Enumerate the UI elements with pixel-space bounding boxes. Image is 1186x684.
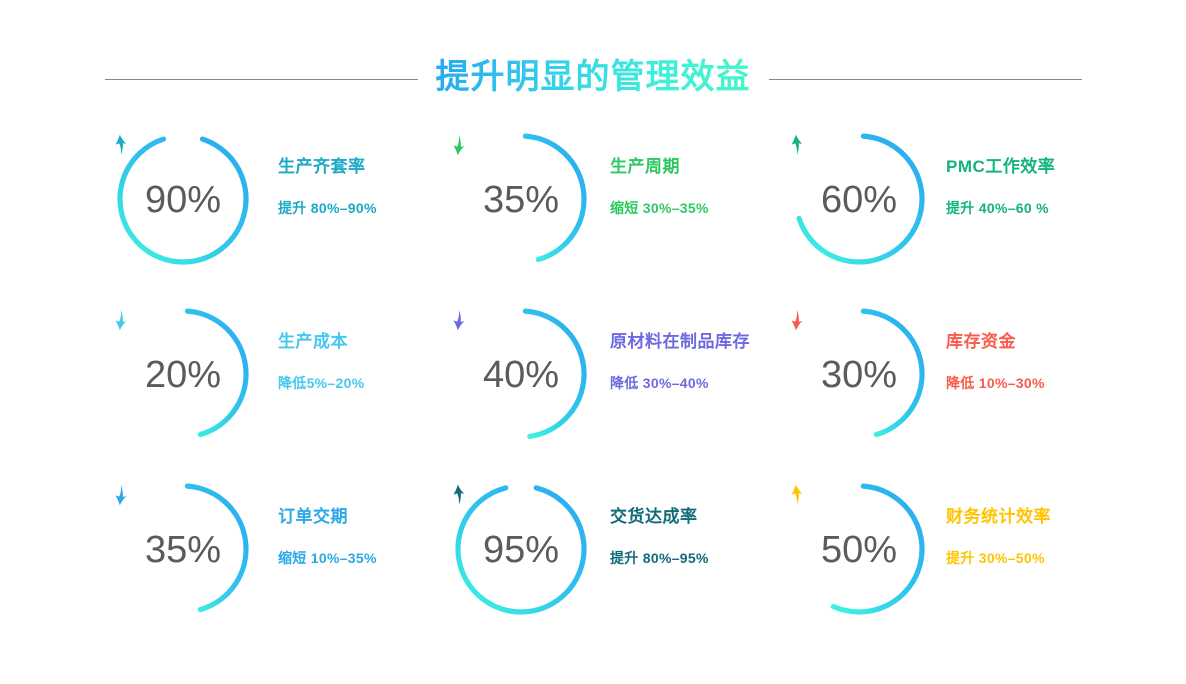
metric-card: 60% PMC工作效率 提升 40%–60 %: [772, 122, 1110, 297]
metric-subtitle: 缩短 10%–35%: [278, 551, 377, 566]
gauge-metric-finance-statistics-efficiency: 50%: [786, 476, 932, 622]
gauge-metric-delivery-achievement-rate: 95%: [448, 476, 594, 622]
metric-subtitle: 降低 30%–40%: [610, 376, 709, 391]
arrow-up-icon: [110, 132, 132, 158]
metric-info: 交货达成率 提升 80%–95%: [610, 508, 709, 566]
gauge-value: 95%: [483, 531, 559, 569]
gauge-metric-inventory-capital: 30%: [786, 301, 932, 447]
metric-info: 财务统计效率 提升 30%–50%: [946, 508, 1051, 566]
arrow-down-icon: [786, 307, 808, 333]
metric-subtitle: 提升 40%–60 %: [946, 201, 1049, 216]
header-rule-left: [105, 79, 418, 80]
metric-card: 95% 交货达成率 提升 80%–95%: [434, 472, 772, 647]
gauge-metric-pmc-efficiency: 60%: [786, 126, 932, 272]
metric-subtitle: 提升 80%–95%: [610, 551, 709, 566]
gauge-center: 90%: [110, 126, 256, 272]
metric-info: PMC工作效率 提升 40%–60 %: [946, 158, 1055, 216]
metric-title: 生产周期: [610, 158, 680, 177]
gauge-metric-order-lead-time: 35%: [110, 476, 256, 622]
metric-title: 生产成本: [278, 333, 348, 352]
metric-info: 生产齐套率 提升 80%–90%: [278, 158, 377, 216]
gauge-value: 35%: [483, 181, 559, 219]
gauge-value: 60%: [821, 181, 897, 219]
header-rule-right: [769, 79, 1082, 80]
metric-card: 20% 生产成本 降低5%–20%: [96, 297, 434, 472]
metrics-grid: 90% 生产齐套率 提升 80%–90%: [96, 122, 1096, 647]
metric-title: 库存资金: [946, 333, 1016, 352]
metric-subtitle: 提升 80%–90%: [278, 201, 377, 216]
arrow-up-icon: [786, 482, 808, 508]
metric-title: 订单交期: [278, 508, 348, 527]
page-header: 提升明显的管理效益: [0, 52, 1186, 106]
metric-title: 财务统计效率: [946, 508, 1051, 527]
metric-card: 35% 订单交期 缩短 10%–35%: [96, 472, 434, 647]
metric-subtitle: 提升 30%–50%: [946, 551, 1045, 566]
gauge-center: 20%: [110, 301, 256, 447]
gauge-value: 50%: [821, 531, 897, 569]
metric-info: 原材料在制品库存 降低 30%–40%: [610, 333, 750, 391]
metric-card: 90% 生产齐套率 提升 80%–90%: [96, 122, 434, 297]
gauge-center: 60%: [786, 126, 932, 272]
metric-card: 50% 财务统计效率 提升 30%–50%: [772, 472, 1110, 647]
gauge-center: 95%: [448, 476, 594, 622]
metric-card: 30% 库存资金 降低 10%–30%: [772, 297, 1110, 472]
gauge-metric-production-cost: 20%: [110, 301, 256, 447]
metric-info: 生产成本 降低5%–20%: [278, 333, 364, 391]
arrow-up-icon: [448, 482, 470, 508]
gauge-metric-production-kitting-rate: 90%: [110, 126, 256, 272]
gauge-center: 30%: [786, 301, 932, 447]
metric-title: PMC工作效率: [946, 158, 1055, 177]
gauge-value: 40%: [483, 356, 559, 394]
metric-subtitle: 缩短 30%–35%: [610, 201, 709, 216]
metric-card: 40% 原材料在制品库存 降低 30%–40%: [434, 297, 772, 472]
gauge-value: 35%: [145, 531, 221, 569]
arrow-down-icon: [110, 482, 132, 508]
metric-title: 交货达成率: [610, 508, 698, 527]
metric-info: 库存资金 降低 10%–30%: [946, 333, 1045, 391]
metric-info: 生产周期 缩短 30%–35%: [610, 158, 709, 216]
arrow-down-icon: [448, 132, 470, 158]
gauge-value: 90%: [145, 181, 221, 219]
gauge-center: 40%: [448, 301, 594, 447]
page-title: 提升明显的管理效益: [436, 55, 751, 104]
gauge-center: 35%: [110, 476, 256, 622]
gauge-center: 50%: [786, 476, 932, 622]
metric-title: 生产齐套率: [278, 158, 366, 177]
gauge-value: 20%: [145, 356, 221, 394]
metric-subtitle: 降低5%–20%: [278, 376, 364, 391]
metric-title: 原材料在制品库存: [610, 333, 750, 352]
metric-card: 35% 生产周期 缩短 30%–35%: [434, 122, 772, 297]
arrow-down-icon: [448, 307, 470, 333]
arrow-up-icon: [786, 132, 808, 158]
arrow-down-icon: [110, 307, 132, 333]
gauge-metric-production-cycle: 35%: [448, 126, 594, 272]
metric-subtitle: 降低 10%–30%: [946, 376, 1045, 391]
gauge-center: 35%: [448, 126, 594, 272]
gauge-metric-raw-material-wip-inventory: 40%: [448, 301, 594, 447]
gauge-value: 30%: [821, 356, 897, 394]
metric-info: 订单交期 缩短 10%–35%: [278, 508, 377, 566]
